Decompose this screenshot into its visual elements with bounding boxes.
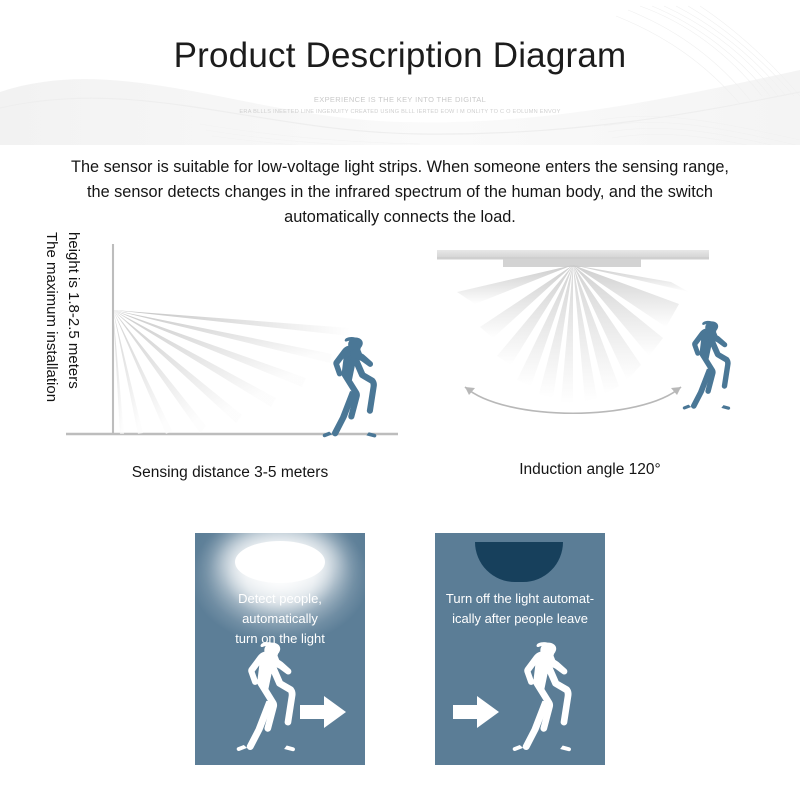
- arrow-right-icon: [300, 696, 346, 728]
- person-silhouette: [323, 337, 377, 437]
- sensing-distance-diagram: [60, 232, 405, 487]
- scenario-cards: Detect people, automatically turn on the…: [0, 533, 800, 768]
- arrow-right-icon: [453, 696, 499, 728]
- person-walking-icon: [237, 642, 296, 751]
- scenario-card-text-off: Turn off the light automat- ically after…: [441, 589, 599, 629]
- header-subtitle-secondary: ERA BLLLS INEETED LINE INGENUITY CREATED…: [0, 109, 800, 115]
- person-silhouette: [683, 321, 731, 410]
- card-art-on: [195, 633, 365, 765]
- installation-height-label-line1: The maximum installation: [42, 232, 60, 452]
- person-walking-icon: [513, 642, 572, 751]
- scenario-card-text-off-line1: Turn off the light automat-: [441, 589, 599, 609]
- product-description-page: Product Description Diagram EXPERIENCE I…: [0, 0, 800, 800]
- ceiling-lamp-on-icon: [235, 541, 325, 583]
- card-art-off: [435, 633, 605, 765]
- installation-height-label-line2: height is 1.8-2.5 meters: [64, 232, 82, 472]
- induction-angle-graphic: [435, 232, 735, 487]
- diagram-row: [0, 232, 800, 492]
- scenario-card-text-on-line1: Detect people, automatically: [201, 589, 359, 629]
- page-header: Product Description Diagram EXPERIENCE I…: [0, 0, 800, 145]
- intro-paragraph: The sensor is suitable for low-voltage l…: [62, 155, 738, 230]
- header-subtitle-primary: EXPERIENCE IS THE KEY INTO THE DIGITAL: [0, 95, 800, 104]
- scenario-card-light-off: Turn off the light automat- ically after…: [435, 533, 605, 765]
- scenario-card-light-on: Detect people, automatically turn on the…: [195, 533, 365, 765]
- induction-angle-caption: Induction angle 120°: [440, 461, 740, 479]
- induction-angle-diagram: [435, 232, 735, 487]
- sensing-distance-graphic: [60, 232, 405, 487]
- sensing-distance-caption: Sensing distance 3-5 meters: [60, 464, 400, 482]
- scenario-card-text-off-line2: ically after people leave: [441, 609, 599, 629]
- ceiling-lamp-off-icon: [475, 542, 563, 582]
- page-title: Product Description Diagram: [0, 36, 800, 76]
